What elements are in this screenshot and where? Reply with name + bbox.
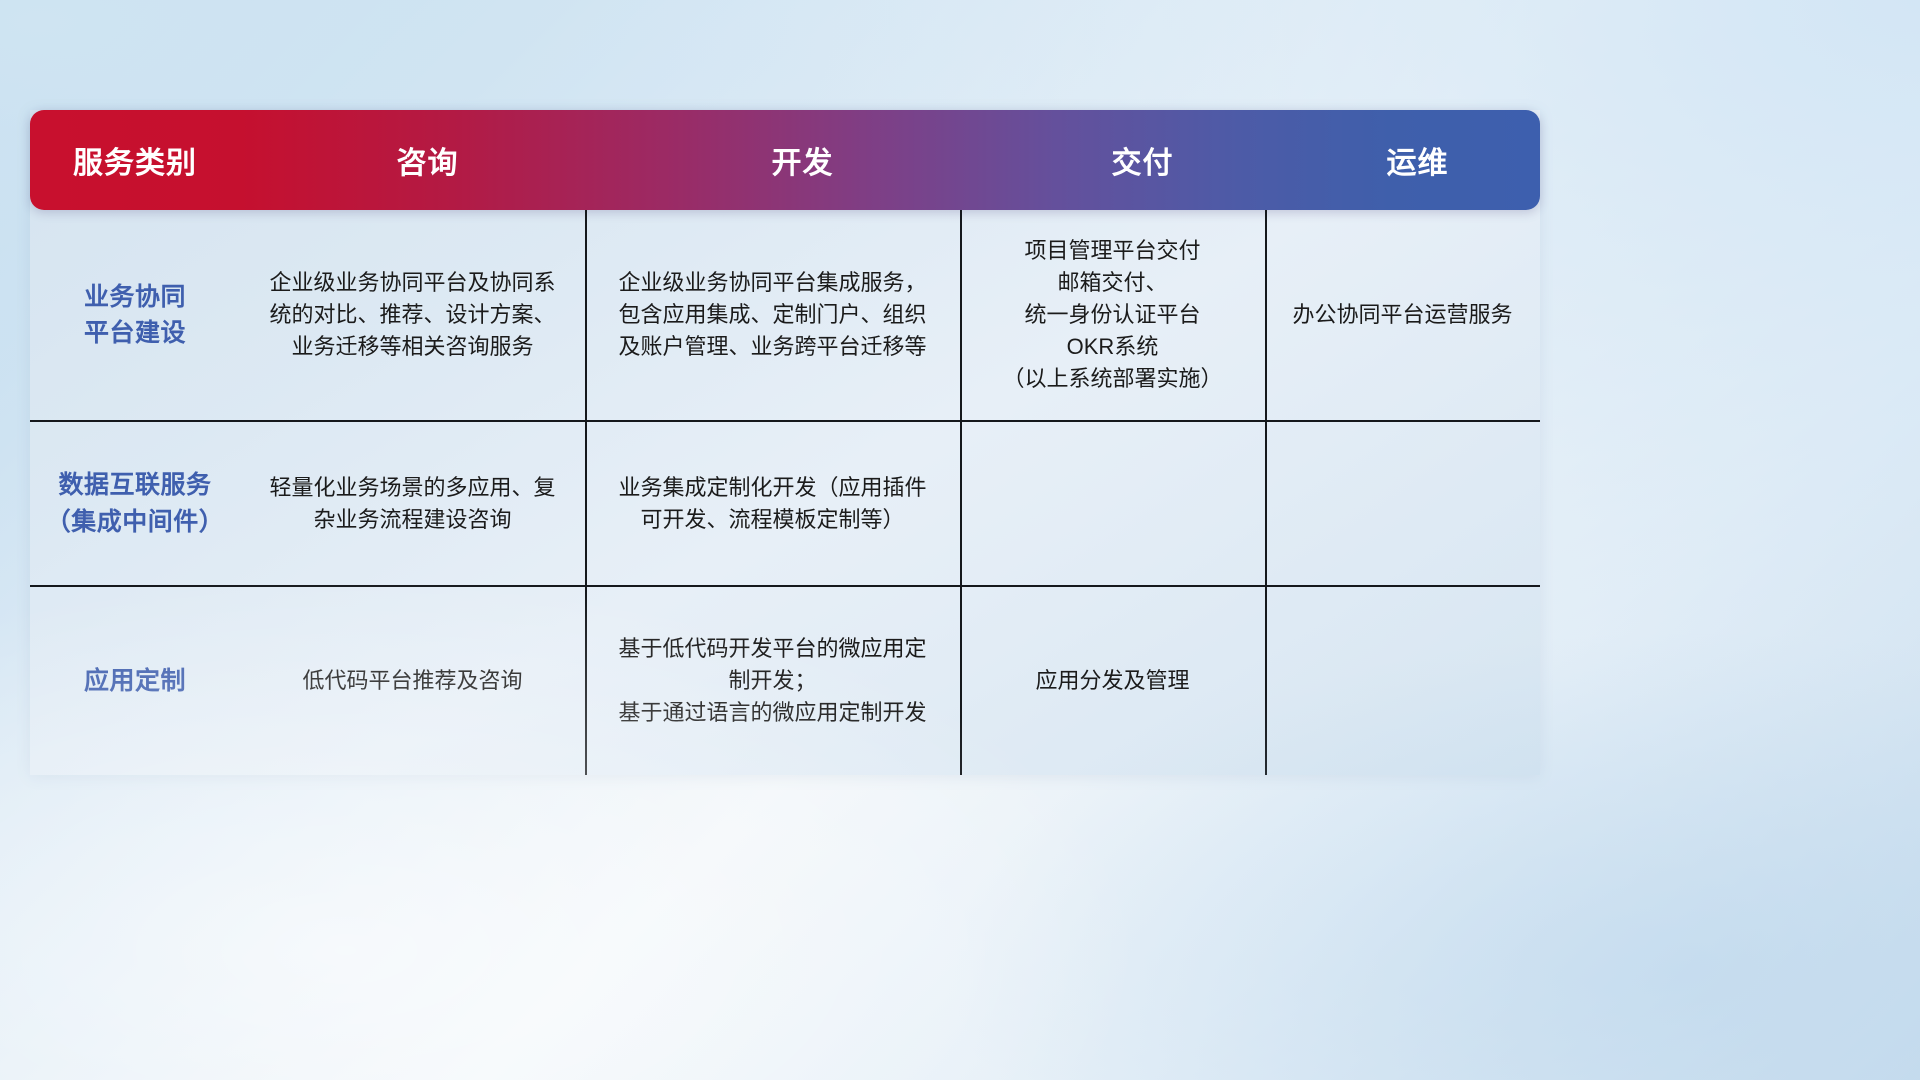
- cell-category: 业务协同平台建设: [30, 210, 240, 420]
- table-row: 业务协同平台建设 企业级业务协同平台及协同系统的对比、推荐、设计方案、业务迁移等…: [30, 210, 1540, 420]
- header-cell-development: 开发: [615, 138, 990, 182]
- cell-delivery: 应用分发及管理: [960, 587, 1265, 775]
- cell-delivery: 项目管理平台交付邮箱交付、统一身份认证平台OKR系统（以上系统部署实施）: [960, 210, 1265, 420]
- cell-development: 企业级业务协同平台集成服务，包含应用集成、定制门户、组织及账户管理、业务跨平台迁…: [585, 210, 960, 420]
- table-header-row: 服务类别 咨询 开发 交付 运维: [30, 110, 1540, 210]
- cell-category: 应用定制: [30, 587, 240, 775]
- cell-consulting: 企业级业务协同平台及协同系统的对比、推荐、设计方案、业务迁移等相关咨询服务: [240, 210, 585, 420]
- cell-operations: 办公协同平台运营服务: [1265, 210, 1540, 420]
- cell-category: 数据互联服务（集成中间件）: [30, 422, 240, 585]
- cell-consulting: 轻量化业务场景的多应用、复杂业务流程建设咨询: [240, 422, 585, 585]
- table-row: 数据互联服务（集成中间件） 轻量化业务场景的多应用、复杂业务流程建设咨询 业务集…: [30, 422, 1540, 585]
- cell-delivery: [960, 422, 1265, 585]
- cell-operations: [1265, 587, 1540, 775]
- header-cell-consulting: 咨询: [240, 138, 615, 182]
- table-row: 应用定制 低代码平台推荐及咨询 基于低代码开发平台的微应用定制开发；基于通过语言…: [30, 587, 1540, 775]
- cell-consulting: 低代码平台推荐及咨询: [240, 587, 585, 775]
- cell-operations: [1265, 422, 1540, 585]
- header-cell-delivery: 交付: [990, 138, 1295, 182]
- cell-development: 业务集成定制化开发（应用插件可开发、流程模板定制等）: [585, 422, 960, 585]
- service-matrix-table: 服务类别 咨询 开发 交付 运维 业务协同平台建设 企业级业务协同平台及协同系统…: [30, 110, 1540, 775]
- table-body: 业务协同平台建设 企业级业务协同平台及协同系统的对比、推荐、设计方案、业务迁移等…: [30, 210, 1540, 775]
- slide-background: 服务类别 咨询 开发 交付 运维 业务协同平台建设 企业级业务协同平台及协同系统…: [0, 0, 1920, 1080]
- cell-development: 基于低代码开发平台的微应用定制开发；基于通过语言的微应用定制开发: [585, 587, 960, 775]
- header-cell-operations: 运维: [1295, 138, 1540, 182]
- header-cell-service-category: 服务类别: [30, 138, 240, 182]
